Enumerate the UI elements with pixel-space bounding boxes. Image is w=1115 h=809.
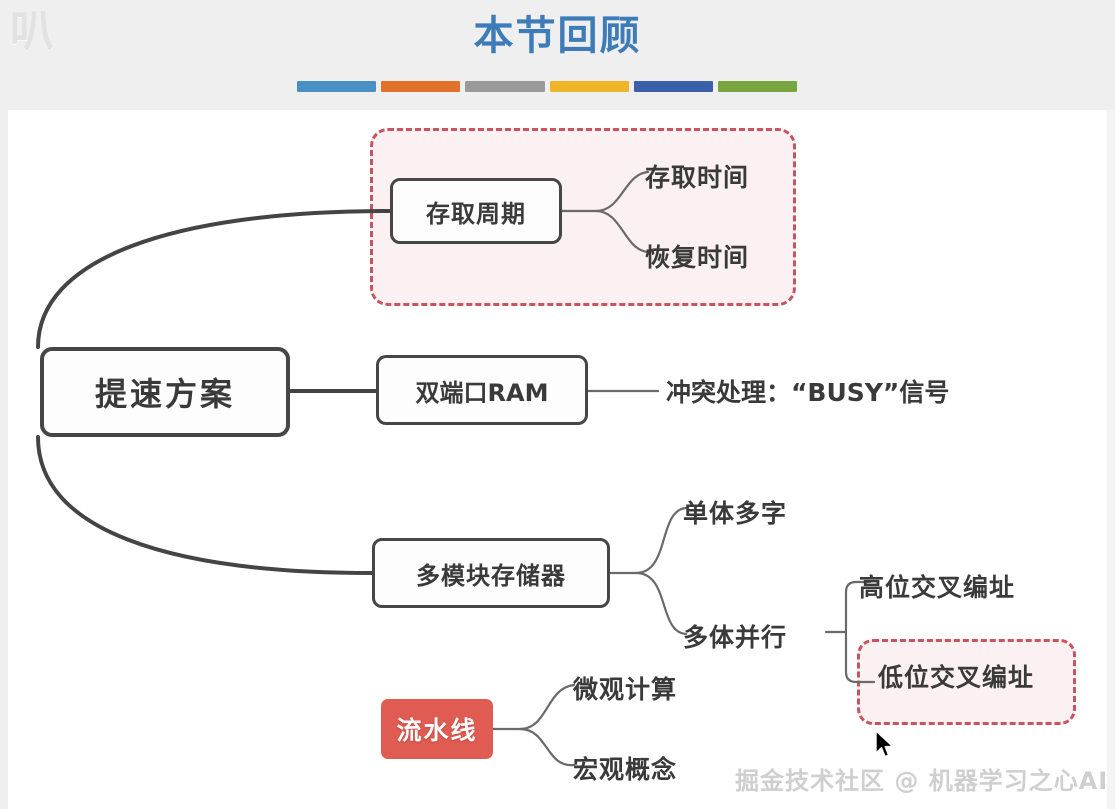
- bar-green: [718, 81, 797, 92]
- leaf-high-order-interleave[interactable]: 高位交叉编址: [859, 568, 1015, 604]
- bar-orange: [381, 81, 460, 92]
- node-dual-port-ram[interactable]: 双端口RAM: [376, 355, 588, 425]
- page-title: 本节回顾: [0, 8, 1115, 64]
- color-bar-row: [297, 81, 797, 92]
- bar-blue: [297, 81, 376, 92]
- leaf-access-time[interactable]: 存取时间: [645, 158, 749, 194]
- site-watermark: 掘金技术社区 @ 机器学习之心AI: [735, 761, 1108, 796]
- leaf-single-body-multi-word[interactable]: 单体多字: [683, 494, 787, 530]
- bar-darkblue: [634, 81, 713, 92]
- leaf-macro-concept[interactable]: 宏观概念: [573, 750, 677, 786]
- right-edge-strip: [1107, 110, 1115, 809]
- bar-yellow: [550, 81, 629, 92]
- slide-header: 叭 本节回顾: [0, 0, 1115, 110]
- mouse-cursor: [874, 730, 896, 760]
- node-root[interactable]: 提速方案: [40, 347, 290, 437]
- slide-root: 叭 本节回顾: [0, 0, 1115, 809]
- node-multi-module-memory[interactable]: 多模块存储器: [372, 538, 610, 608]
- leaf-conflict-busy-signal[interactable]: 冲突处理：“BUSY”信号: [666, 373, 949, 409]
- leaf-recovery-time[interactable]: 恢复时间: [645, 238, 749, 274]
- leaf-micro-computation[interactable]: 微观计算: [573, 670, 677, 706]
- node-pipeline[interactable]: 流水线: [381, 699, 493, 759]
- mindmap-canvas: 提速方案 存取周期 存取时间 恢复时间 双端口RAM 冲突处理：“BUSY”信号…: [8, 110, 1107, 809]
- node-access-cycle[interactable]: 存取周期: [390, 178, 562, 244]
- leaf-low-order-interleave[interactable]: 低位交叉编址: [878, 658, 1034, 694]
- bar-gray: [465, 81, 544, 92]
- leaf-multi-body-parallel[interactable]: 多体并行: [683, 618, 787, 654]
